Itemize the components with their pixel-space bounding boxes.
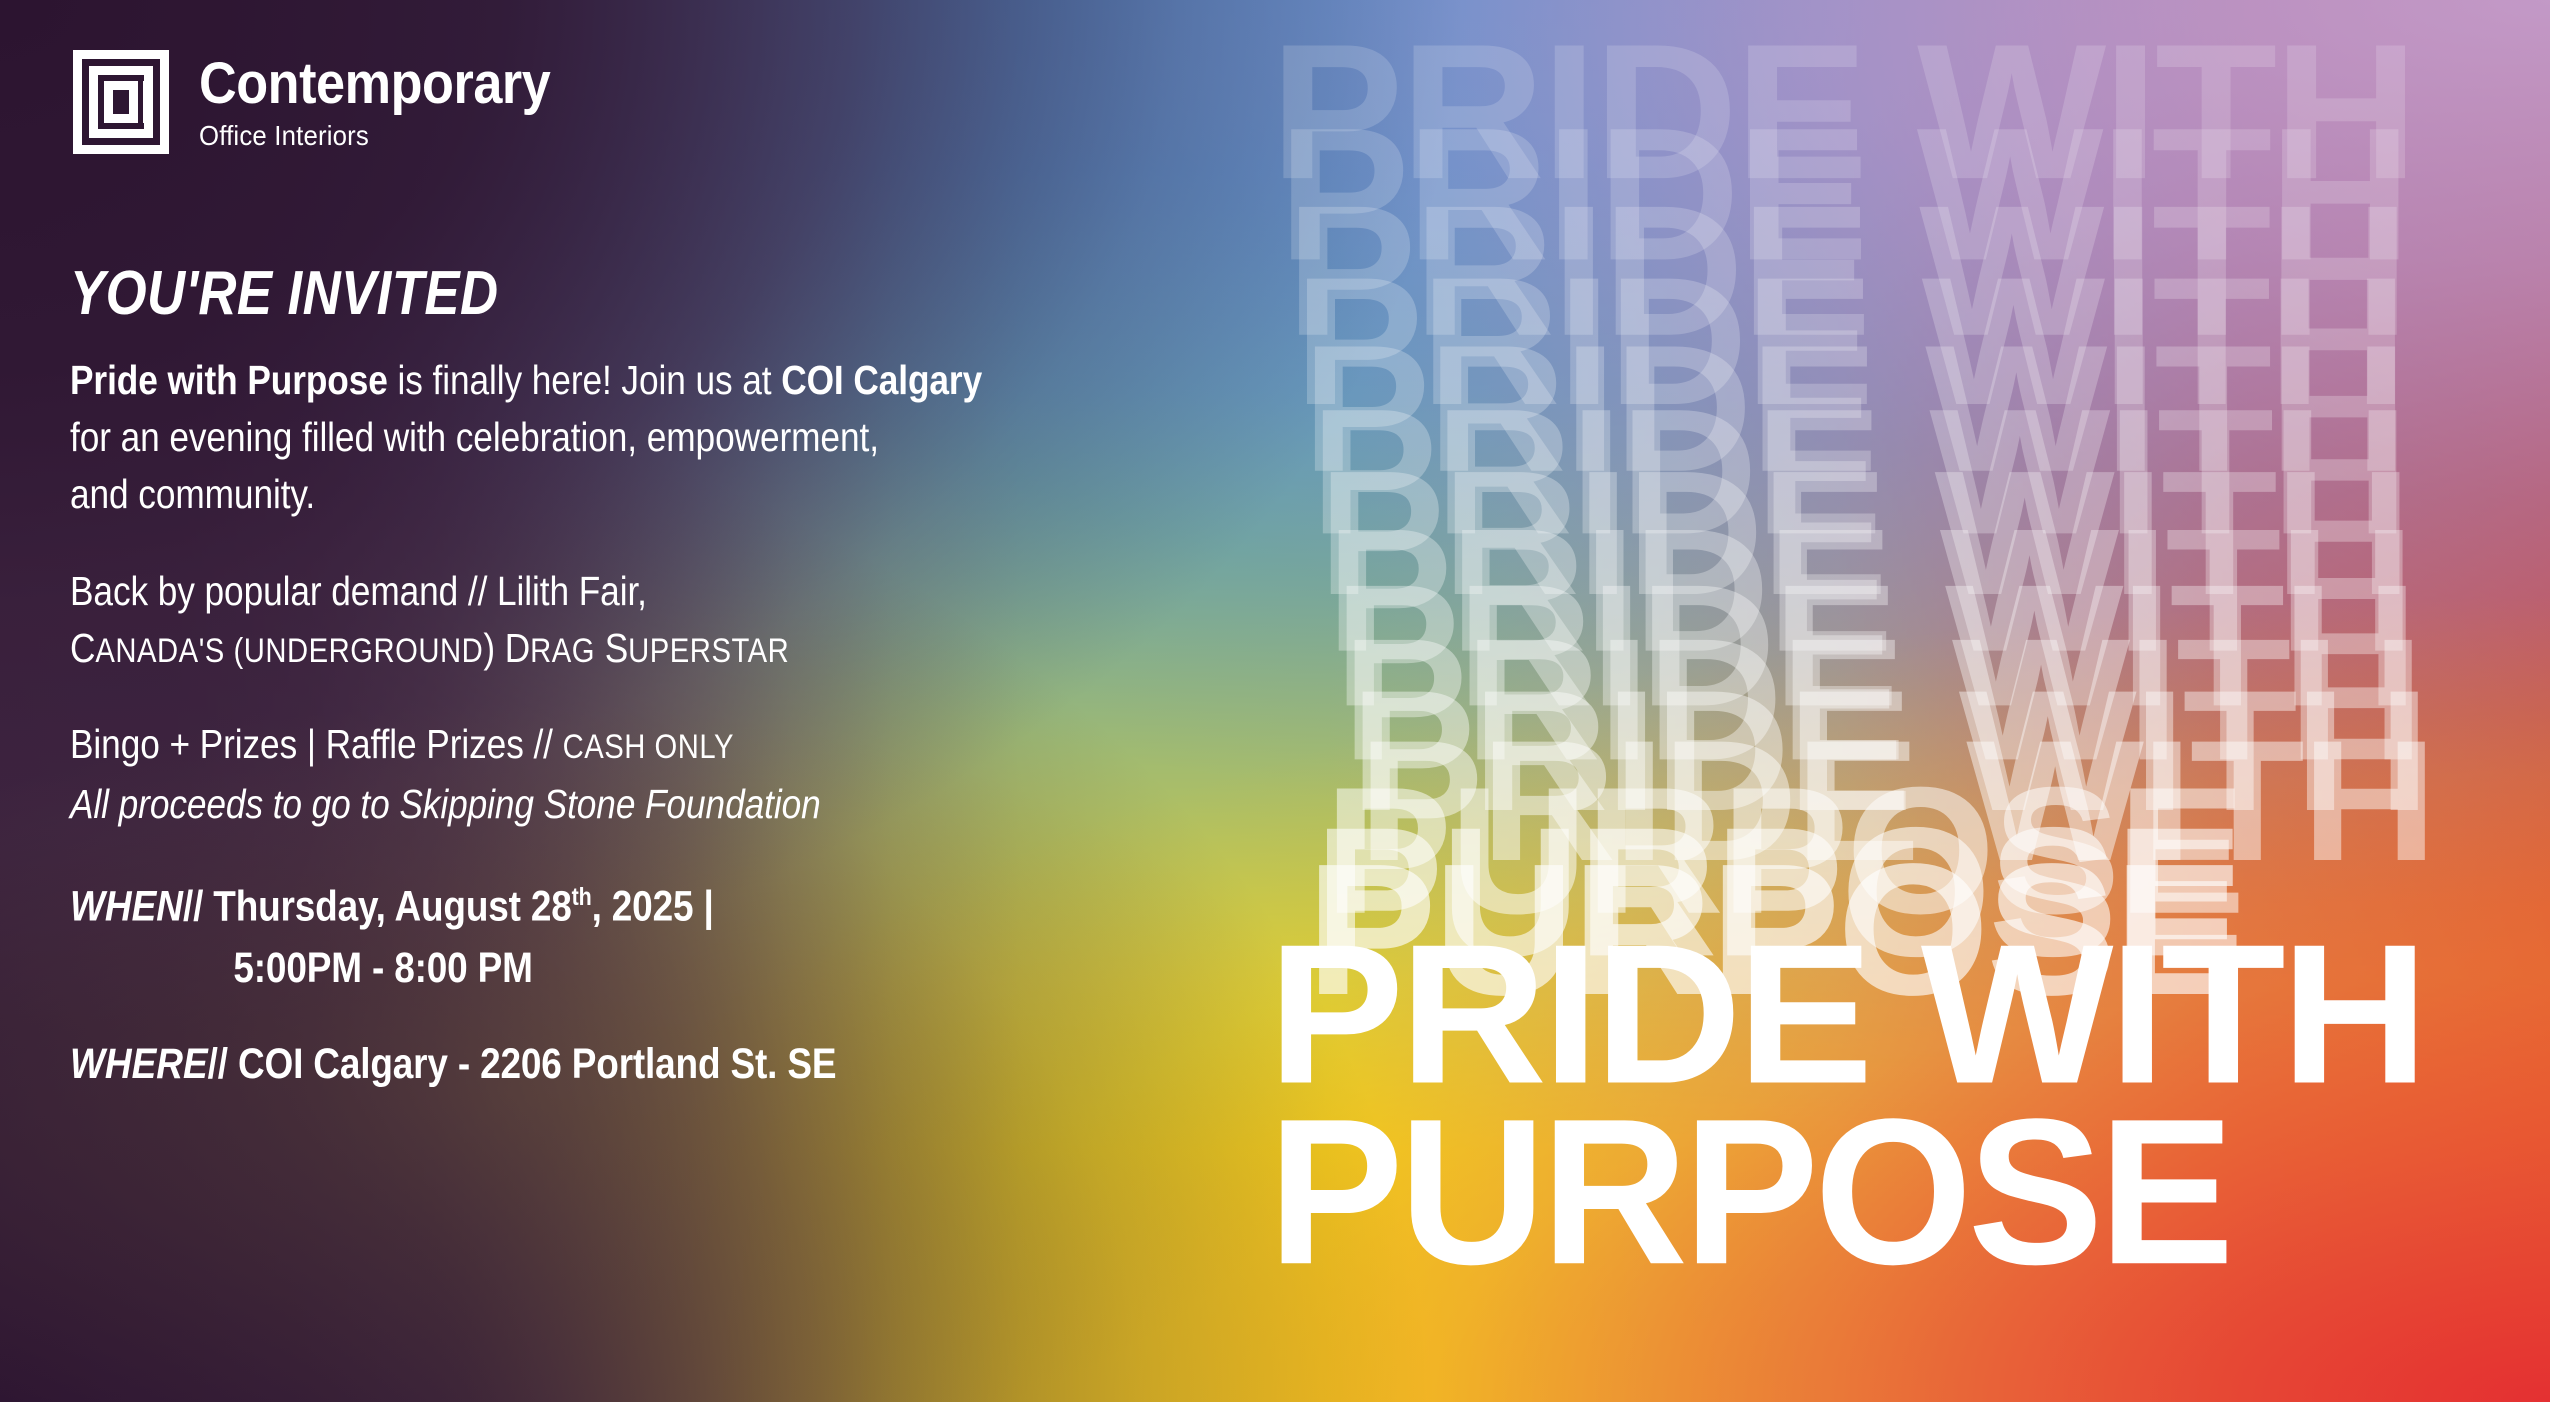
paragraph-performer-line-2: CANADA'S (UNDERGROUND) DRAG SUPERSTAR: [70, 620, 1025, 680]
brand-wordmark: Contemporary Office Interiors: [199, 55, 589, 150]
event-name-bold: Pride with Purpose: [70, 357, 388, 403]
performer-title-smallcaps-s-u: S (U: [205, 632, 266, 670]
brand-name: Contemporary: [199, 55, 550, 113]
performer-title-smallcaps-uperstar: UPERSTAR: [628, 632, 789, 670]
spacer: [70, 523, 1180, 563]
paragraph-prizes-line-1: Bingo + Prizes | Raffle Prizes // CASH O…: [70, 716, 1025, 776]
brand-logo-lockup: Contemporary Office Interiors: [73, 50, 589, 154]
when-label: WHEN: [70, 882, 183, 930]
intro-mid-text: is finally here! Join us at: [388, 357, 781, 403]
event-date-post: , 2025 |: [592, 882, 714, 930]
cash-only-note: CASH ONLY: [563, 728, 734, 766]
paragraph-proceeds-note: All proceeds to go to Skipping Stone Fou…: [70, 776, 1025, 833]
paragraph-intro-line-1: Pride with Purpose is finally here! Join…: [70, 352, 1025, 409]
event-details-block: WHEN// Thursday, August 28th, 2025 | 5:0…: [70, 866, 1180, 1095]
hero-wordmark: PRIDE WITH PURPOSE: [1268, 930, 2550, 1254]
paragraph-performer-line-1: Back by popular demand // Lilith Fair,: [70, 563, 1025, 620]
performer-title-smallcaps-nderground: NDERGROUND: [265, 632, 483, 670]
performer-title-cap-s: S: [595, 625, 628, 671]
page-title: YOU'RE INVITED: [70, 258, 498, 329]
when-separator: //: [183, 882, 203, 930]
spacer: [70, 999, 1180, 1033]
performer-title-smallcaps-rag: RAG: [530, 632, 595, 670]
performer-title-close-d: ) D: [483, 625, 530, 671]
where-label: WHERE: [70, 1040, 208, 1088]
invitation-content-column: Contemporary Office Interiors YOU'RE INV…: [68, 0, 1188, 1402]
performer-title-smallcaps-anada: ANADA: [95, 632, 198, 670]
prizes-main-text: Bingo + Prizes | Raffle Prizes //: [70, 721, 563, 767]
event-time: 5:00PM - 8:00 PM: [70, 937, 1025, 999]
where-separator: //: [208, 1040, 228, 1088]
event-date-pre: Thursday, August 28: [203, 882, 571, 930]
paragraph-intro-line-2: for an evening filled with celebration, …: [70, 409, 1025, 466]
brand-tagline: Office Interiors: [199, 122, 558, 150]
event-date-ordinal: th: [572, 883, 592, 911]
pride-with-purpose-invitation-poster: PRIDE WITHPRIDE WITHPRIDE WITHPRIDE WITH…: [0, 0, 2550, 1402]
invitation-body-copy: Pride with Purpose is finally here! Join…: [70, 352, 1180, 833]
event-when-line: WHEN// Thursday, August 28th, 2025 |: [70, 866, 1025, 937]
hero-line-2: PURPOSE: [1268, 1104, 2550, 1281]
event-address: COI Calgary - 2206 Portland St. SE: [228, 1040, 836, 1088]
paragraph-intro-line-3: and community.: [70, 466, 1025, 523]
performer-title-smallcaps-c: C: [70, 625, 95, 671]
nested-squares-logo-icon: [73, 50, 169, 154]
spacer: [70, 680, 1180, 716]
hero-line-1: PRIDE WITH: [1268, 930, 2550, 1100]
venue-name-bold: COI Calgary: [781, 357, 982, 403]
event-where-line: WHERE// COI Calgary - 2206 Portland St. …: [70, 1033, 1025, 1095]
